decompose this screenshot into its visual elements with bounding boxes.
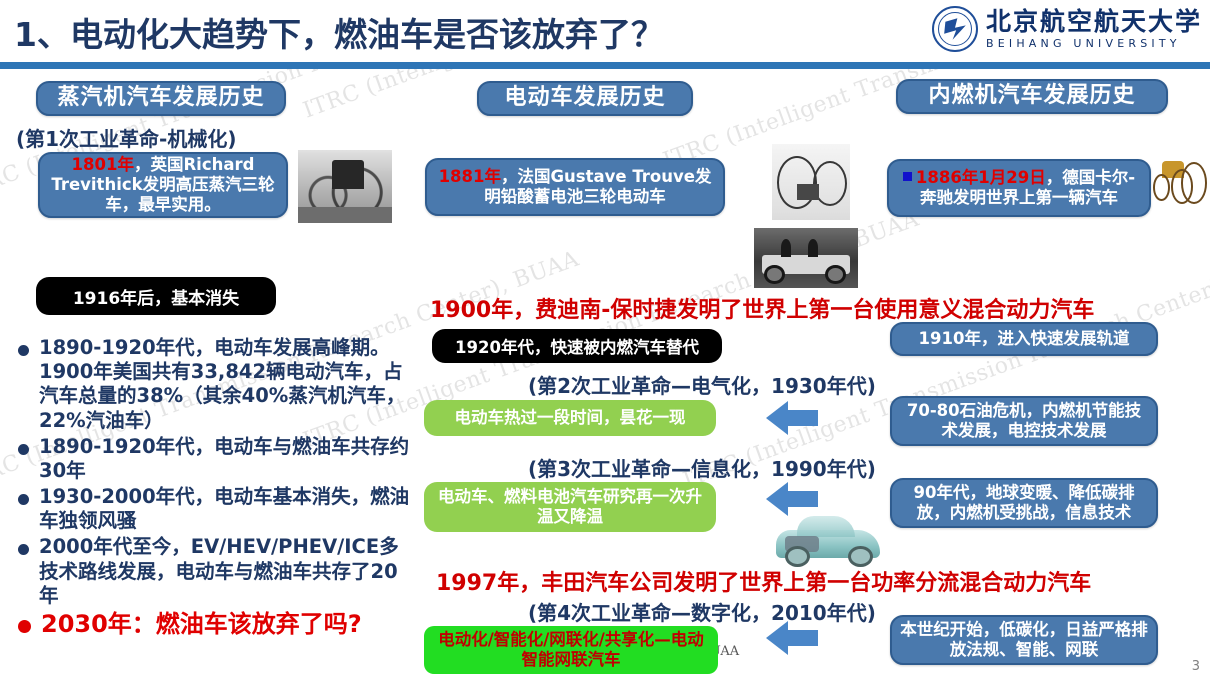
steam-disappear-note: 1916年后，基本消失	[36, 277, 276, 315]
list-item: 1890-1920年代，电动车发展高峰期。1900年美国共有33,842辆电动汽…	[12, 336, 412, 433]
ice-fact-year: 1886年1月29日	[916, 168, 1046, 187]
hybrid-car-cutaway-photo	[772, 510, 884, 572]
timeline-bright-green-note: 电动化/智能化/网联化/共享化—电动智能网联汽车	[424, 626, 718, 674]
bullet-text: 1890-1920年代，电动车与燃油车共存约30年	[39, 435, 412, 483]
bullet-dot-icon	[18, 620, 31, 633]
bullet-dot-icon	[18, 544, 29, 555]
right-box-3: 90年代，地球变暖、降低碳排放，内燃机受挑战，信息技术	[890, 478, 1158, 528]
electric-column-header: 电动车发展历史	[477, 81, 693, 116]
arrow-left-icon-2	[766, 482, 818, 516]
page-number: 3	[1192, 659, 1200, 674]
timeline-green-note-1: 电动车热过一段时间，昙花一现	[424, 400, 716, 436]
revolution-3-label: (第3次工业革命—信息化，1990年代)	[528, 453, 876, 482]
steam-column-header: 蒸汽机汽车发展历史	[36, 81, 286, 116]
timeline-1900-headline: 1900年，费迪南-保时捷发明了世界上第一台使用意义混合动力汽车	[430, 292, 1094, 324]
buaa-seal-icon	[932, 6, 978, 52]
page-title: 1、电动化大趋势下，燃油车是否该放弃了？	[14, 8, 664, 56]
electric-fact-rest: ，法国Gustave Trouve发明铅酸蓄电池三轮电动车	[484, 167, 711, 206]
list-item-highlight: 2030年：燃油车该放弃了吗?	[12, 610, 412, 640]
right-box-1: 1910年，进入快速发展轨道	[890, 322, 1158, 356]
right-box-4: 本世纪开始，低碳化，日益严格排放法规、智能、网联	[890, 615, 1158, 665]
university-logo: 北京航空航天大学 BEIHANG UNIVERSITY	[932, 6, 1202, 52]
list-item: 1890-1920年代，电动车与燃油车共存约30年	[12, 435, 412, 483]
electric-fact-year: 1881年	[439, 167, 501, 186]
electric-fact-box: 1881年，法国Gustave Trouve发明铅酸蓄电池三轮电动车	[425, 158, 725, 216]
list-item: 1930-2000年代，电动车基本消失，燃油车独领风骚	[12, 485, 412, 533]
timeline-1920-note: 1920年代，快速被内燃汽车替代	[432, 329, 722, 363]
bullet-text: 2030年：燃油车该放弃了吗?	[41, 610, 362, 640]
header-accent-bar	[0, 62, 1210, 69]
steam-fact-box: 1801年，英国Richard Trevithick发明高压蒸汽三轮车，最早实用…	[38, 152, 288, 218]
list-item: 2000年代至今，EV/HEV/PHEV/ICE多技术路线发展，电动车与燃油车共…	[12, 535, 412, 608]
bullet-dot-icon	[18, 345, 29, 356]
slide-header: 1、电动化大趋势下，燃油车是否该放弃了？ 北京航空航天大学 BEIHANG UN…	[0, 0, 1210, 62]
steam-tricycle-photo	[298, 150, 392, 223]
right-box-2: 70-80石油危机，内燃机节能技术发展，电控技术发展	[890, 396, 1158, 446]
logo-name-en: BEIHANG UNIVERSITY	[986, 37, 1202, 50]
arrow-left-icon-1	[766, 401, 818, 435]
bullet-text: 1930-2000年代，电动车基本消失，燃油车独领风骚	[39, 485, 412, 533]
timeline-green-note-2: 电动车、燃料电池汽车研究再一次升温又降温	[424, 482, 716, 532]
benz-patent-motorwagen-photo	[1152, 152, 1208, 208]
logo-name-cn: 北京航空航天大学	[986, 9, 1202, 34]
steam-fact-year: 1801年	[72, 155, 134, 174]
bullet-dot-icon	[18, 494, 29, 505]
square-bullet-icon	[903, 172, 912, 181]
arrow-left-icon-3	[766, 621, 818, 655]
early-electric-car-photo	[754, 228, 858, 288]
bullet-text: 1890-1920年代，电动车发展高峰期。1900年美国共有33,842辆电动汽…	[39, 336, 412, 433]
trouve-tricycle-photo	[772, 144, 850, 220]
ice-fact-box: 1886年1月29日，德国卡尔-奔驰发明世界上第一辆汽车	[887, 159, 1151, 217]
bullet-text: 2000年代至今，EV/HEV/PHEV/ICE多技术路线发展，电动车与燃油车共…	[39, 535, 412, 608]
left-bullet-list: 1890-1920年代，电动车发展高峰期。1900年美国共有33,842辆电动汽…	[12, 336, 412, 642]
revolution-2-label: (第2次工业革命—电气化，1930年代)	[528, 370, 876, 399]
timeline-1997-headline: 1997年，丰田汽车公司发明了世界上第一台功率分流混合动力汽车	[436, 565, 1091, 597]
bullet-dot-icon	[18, 444, 29, 455]
slide-canvas: ITRC (Intelligent Transmission Research …	[0, 0, 1210, 680]
steam-column-subheader: (第1次工业革命-机械化)	[16, 123, 237, 152]
revolution-4-label: (第4次工业革命—数字化，2010年代)	[528, 597, 876, 626]
ice-column-header: 内燃机汽车发展历史	[896, 79, 1168, 114]
